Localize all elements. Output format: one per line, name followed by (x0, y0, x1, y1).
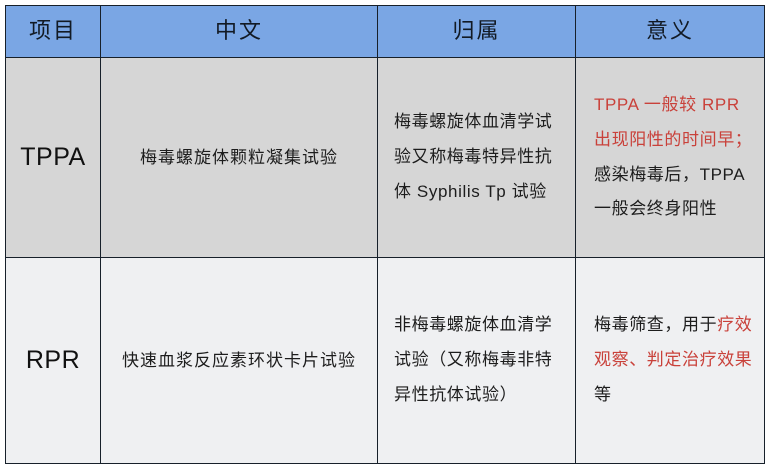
column-header-chinese-label: 中文 (101, 18, 377, 44)
test-code-tppa: TPPA (6, 143, 100, 172)
cell-meaning-tppa: TPPA 一般较 RPR 出现阳性的时间早；感染梅毒后，TPPA 一般会终身阳性 (576, 58, 765, 258)
column-header-attribution: 归属 (378, 6, 576, 58)
column-header-meaning: 意义 (576, 6, 765, 58)
cell-attribution-tppa: 梅毒螺旋体血清学试验又称梅毒特异性抗体 Syphilis Tp 试验 (378, 58, 576, 258)
test-code-rpr: RPR (6, 346, 100, 375)
cell-attribution-rpr: 非梅毒螺旋体血清学试验（又称梅毒非特异性抗体试验） (378, 258, 576, 464)
cell-item-tppa: TPPA (6, 58, 101, 258)
test-meaning-rpr: 梅毒筛查，用于疗效观察、判定治疗效果等 (576, 308, 764, 413)
test-meaning-tppa: TPPA 一般较 RPR 出现阳性的时间早；感染梅毒后，TPPA 一般会终身阳性 (576, 88, 764, 227)
meaning-segment-normal: 感染梅毒后，TPPA 一般会终身阳性 (594, 165, 744, 219)
cell-item-rpr: RPR (6, 258, 101, 464)
column-header-chinese: 中文 (101, 6, 378, 58)
test-chinese-name-tppa: 梅毒螺旋体颗粒凝集试验 (101, 145, 377, 171)
slide-canvas: 项目 中文 归属 意义 TPPA 梅毒螺旋体颗粒凝集试验 (0, 0, 770, 468)
column-header-item: 项目 (6, 6, 101, 58)
table-body: TPPA 梅毒螺旋体颗粒凝集试验 梅毒螺旋体血清学试验又称梅毒特异性抗体 Syp… (6, 58, 765, 464)
column-header-item-label: 项目 (6, 18, 100, 44)
test-attribution-tppa: 梅毒螺旋体血清学试验又称梅毒特异性抗体 Syphilis Tp 试验 (378, 105, 575, 210)
test-chinese-name-rpr: 快速血浆反应素环状卡片试验 (101, 348, 377, 374)
test-attribution-rpr: 非梅毒螺旋体血清学试验（又称梅毒非特异性抗体试验） (378, 308, 575, 413)
syphilis-test-comparison-table: 项目 中文 归属 意义 TPPA 梅毒螺旋体颗粒凝集试验 (5, 5, 765, 464)
table-row: TPPA 梅毒螺旋体颗粒凝集试验 梅毒螺旋体血清学试验又称梅毒特异性抗体 Syp… (6, 58, 765, 258)
column-header-attribution-label: 归属 (378, 18, 575, 44)
meaning-segment-highlight: TPPA 一般较 RPR 出现阳性的时间早； (594, 95, 752, 149)
meaning-segment-normal-tail: 等 (594, 385, 612, 404)
column-header-meaning-label: 意义 (576, 18, 764, 44)
table-header: 项目 中文 归属 意义 (6, 6, 765, 58)
meaning-segment-normal: 梅毒筛查，用于 (594, 315, 717, 334)
table-row: RPR 快速血浆反应素环状卡片试验 非梅毒螺旋体血清学试验（又称梅毒非特异性抗体… (6, 258, 765, 464)
cell-meaning-rpr: 梅毒筛查，用于疗效观察、判定治疗效果等 (576, 258, 765, 464)
cell-chinese-rpr: 快速血浆反应素环状卡片试验 (101, 258, 378, 464)
cell-chinese-tppa: 梅毒螺旋体颗粒凝集试验 (101, 58, 378, 258)
table-header-row: 项目 中文 归属 意义 (6, 6, 765, 58)
